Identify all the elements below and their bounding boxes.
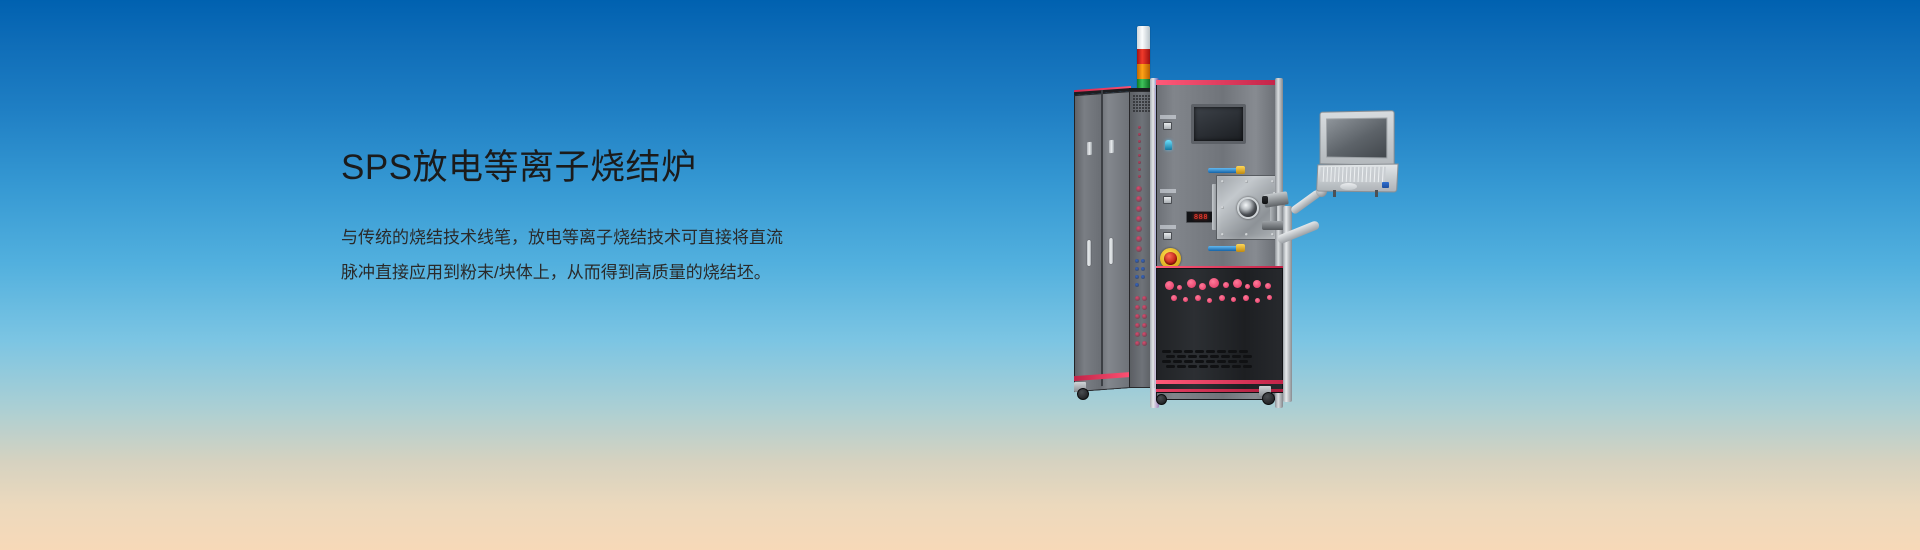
indicator-lamp-icon bbox=[1138, 175, 1141, 178]
indicator-lamp-icon bbox=[1138, 126, 1141, 129]
indicator-lamp-icon bbox=[1142, 341, 1147, 346]
indicator-lamp-icon bbox=[1141, 275, 1145, 279]
laptop-touchpad bbox=[1340, 183, 1357, 190]
door-bolt bbox=[1271, 180, 1274, 183]
indicator-lamp-icon bbox=[1138, 140, 1141, 143]
indicator-lamp-icon bbox=[1142, 296, 1147, 301]
indicator-dot bbox=[1187, 279, 1196, 288]
switch-label bbox=[1160, 115, 1176, 119]
indicator-lamp-icon bbox=[1135, 332, 1140, 337]
page-title: SPS放电等离子烧结炉 bbox=[341, 146, 901, 190]
indicator-dot bbox=[1171, 295, 1177, 301]
indicator-lamp-icon bbox=[1135, 283, 1139, 287]
indicator-lamp-icon bbox=[1135, 296, 1140, 301]
caster-wheel-icon bbox=[1077, 388, 1089, 400]
indicator-lamp-icon bbox=[1136, 186, 1142, 192]
indicator-dot bbox=[1209, 278, 1219, 288]
status-indicator-icon bbox=[1165, 140, 1172, 150]
indicator-lamp-icon bbox=[1141, 259, 1145, 263]
indicator-lamp-icon bbox=[1135, 314, 1140, 319]
door-bolt bbox=[1245, 180, 1248, 183]
indicator-dot bbox=[1265, 283, 1271, 289]
cabinet-handle bbox=[1109, 238, 1113, 264]
cabinet-handle bbox=[1087, 240, 1091, 266]
coolant-pipe bbox=[1208, 168, 1238, 173]
indicator-lamp-icon bbox=[1136, 236, 1142, 242]
indicator-lamp-icon bbox=[1136, 196, 1142, 202]
indicator-lamp-icon bbox=[1142, 332, 1147, 337]
indicator-dot bbox=[1183, 297, 1188, 302]
indicator-lamp-icon bbox=[1142, 323, 1147, 328]
door-bolt bbox=[1221, 233, 1224, 236]
description-line-2: 脉冲直接应用到粉末/块体上，从而得到高质量的烧结坯。 bbox=[341, 255, 901, 291]
indicator-dot bbox=[1207, 298, 1212, 303]
indicator-lamp-icon bbox=[1136, 226, 1142, 232]
indicator-lamp-icon bbox=[1138, 168, 1141, 171]
laptop-screen bbox=[1326, 118, 1387, 159]
lower-cabinet bbox=[1156, 268, 1283, 393]
panel-switch bbox=[1163, 196, 1172, 204]
laptop-mount-clip bbox=[1333, 190, 1336, 197]
hmi-display bbox=[1191, 104, 1246, 144]
indicator-lamp-icon bbox=[1138, 147, 1141, 150]
indicator-lamp-icon bbox=[1136, 206, 1142, 212]
caster-wheel-icon bbox=[1262, 392, 1275, 405]
indicator-lamp-icon bbox=[1135, 305, 1140, 310]
pipe-valve bbox=[1236, 244, 1245, 252]
product-banner: SPS放电等离子烧结炉 与传统的烧结技术线笔，放电等离子烧结技术可直接将直流 脉… bbox=[0, 0, 1920, 550]
indicator-dot bbox=[1267, 295, 1272, 300]
cabinet-door-seam bbox=[1101, 90, 1103, 386]
cabinet-latch bbox=[1087, 142, 1092, 155]
chamber-viewport-icon bbox=[1237, 197, 1259, 219]
panel-top-stripe bbox=[1156, 80, 1278, 85]
panel-switch bbox=[1163, 122, 1172, 130]
door-bolt bbox=[1221, 180, 1224, 183]
indicator-dot bbox=[1195, 295, 1201, 301]
indicator-lamp-icon bbox=[1136, 246, 1142, 252]
banner-description: 与传统的烧结技术线笔，放电等离子烧结技术可直接将直流 脉冲直接应用到粉末/块体上… bbox=[341, 220, 901, 291]
indicator-lamp-icon bbox=[1136, 216, 1142, 222]
indicator-dot bbox=[1223, 282, 1229, 288]
indicator-dot bbox=[1165, 281, 1174, 290]
indicator-lamp-icon bbox=[1135, 341, 1140, 346]
indicator-lamp-icon bbox=[1142, 314, 1147, 319]
description-line-1: 与传统的烧结技术线笔，放电等离子烧结技术可直接将直流 bbox=[341, 220, 901, 256]
cabinet-latch bbox=[1109, 140, 1114, 153]
indicator-dot bbox=[1219, 295, 1225, 301]
door-bolt bbox=[1245, 233, 1248, 236]
indicator-lamp-icon bbox=[1138, 154, 1141, 157]
vent-grid-icon bbox=[1133, 95, 1151, 115]
indicator-dot bbox=[1255, 298, 1260, 303]
indicator-lamp-icon bbox=[1135, 259, 1139, 263]
panel-switch bbox=[1163, 232, 1172, 240]
switch-label bbox=[1160, 225, 1176, 229]
readout-value: 888 bbox=[1194, 213, 1208, 221]
emergency-stop-button-icon bbox=[1164, 252, 1177, 265]
indicator-dot bbox=[1245, 284, 1250, 289]
laptop-mount-clip bbox=[1375, 190, 1378, 197]
indicator-dot bbox=[1177, 285, 1182, 290]
indicator-lamp-icon bbox=[1135, 323, 1140, 328]
indicator-lamp-icon bbox=[1135, 275, 1139, 279]
coolant-pipe bbox=[1208, 246, 1238, 251]
indicator-dot bbox=[1231, 297, 1236, 302]
indicator-dot bbox=[1233, 279, 1242, 288]
switch-label bbox=[1160, 189, 1176, 193]
indicator-dot bbox=[1253, 280, 1261, 288]
banner-copy: SPS放电等离子烧结炉 与传统的烧结技术线笔，放电等离子烧结技术可直接将直流 脉… bbox=[341, 146, 901, 291]
lower-bottom-stripe bbox=[1156, 380, 1283, 384]
pipe-valve bbox=[1236, 166, 1245, 174]
indicator-dot bbox=[1199, 283, 1206, 290]
exhaust-vents-icon bbox=[1162, 350, 1250, 372]
indicator-lamp-icon bbox=[1138, 161, 1141, 164]
indicator-lamp-icon bbox=[1142, 305, 1147, 310]
sintering-furnace-photo: 888 bbox=[1030, 0, 1360, 550]
laptop-keyboard bbox=[1320, 167, 1386, 182]
laptop-badge-icon bbox=[1382, 182, 1389, 188]
indicator-lamp-icon bbox=[1135, 267, 1139, 271]
indicator-dot bbox=[1243, 295, 1249, 301]
camera-lens-icon bbox=[1262, 196, 1268, 204]
indicator-lamp-icon bbox=[1138, 133, 1141, 136]
caster-wheel-icon bbox=[1156, 394, 1167, 405]
door-bolt bbox=[1221, 206, 1224, 209]
tripod-head bbox=[1262, 221, 1284, 230]
door-bolt bbox=[1271, 233, 1274, 236]
indicator-lamp-icon bbox=[1141, 267, 1145, 271]
